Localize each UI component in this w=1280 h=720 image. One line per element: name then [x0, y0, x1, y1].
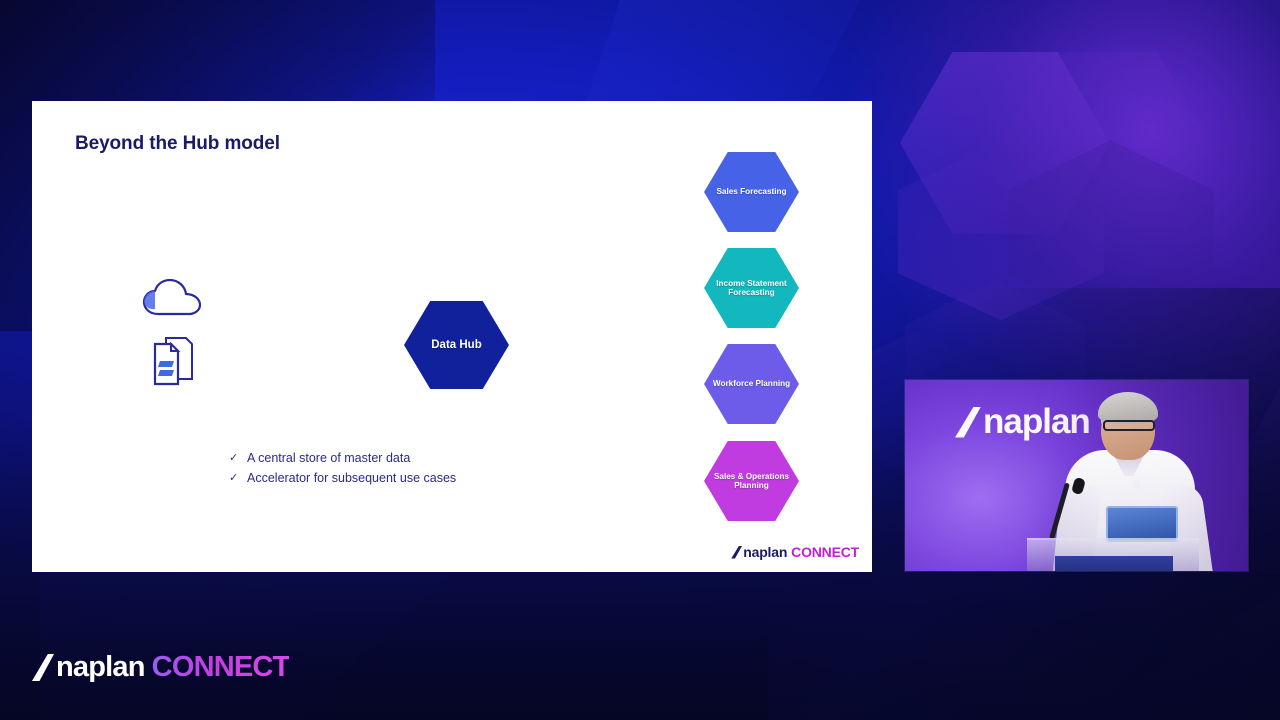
hexagon-data-hub[interactable]: Data Hub: [404, 301, 509, 389]
hexagon-label: Workforce Planning: [713, 379, 790, 388]
hexagon-sales-operations-planning[interactable]: Sales & Operations Planning: [704, 441, 799, 521]
hexagon-label: Sales & Operations Planning: [704, 472, 799, 490]
check-icon: ✓: [229, 449, 247, 467]
podium-base: [1055, 556, 1173, 571]
brand-logo-anaplan: naplan: [56, 651, 145, 684]
hexagon-workforce-planning[interactable]: Workforce Planning: [704, 344, 799, 424]
document-icon: [152, 335, 196, 387]
hexagon-income-statement-forecasting[interactable]: Income Statement Forecasting: [704, 248, 799, 328]
speaker-glasses: [1103, 420, 1155, 431]
bullet-list: ✓ A central store of master data ✓ Accel…: [229, 449, 456, 489]
slide-logo-anaplan: naplan: [743, 544, 787, 560]
cloud-icon: [142, 279, 204, 317]
hexagon-label: Income Statement Forecasting: [704, 279, 799, 297]
list-item-label: Accelerator for subsequent use cases: [247, 469, 456, 487]
list-item: ✓ Accelerator for subsequent use cases: [229, 469, 456, 487]
list-item: ✓ A central store of master data: [229, 449, 456, 467]
lapel-mic-icon: [1133, 480, 1140, 489]
check-icon: ✓: [229, 469, 247, 487]
hexagon-sales-forecasting[interactable]: Sales Forecasting: [704, 152, 799, 232]
hexagon-label: Data Hub: [431, 339, 481, 352]
presentation-slide: Beyond the Hub model Data Hub Sales Fore…: [32, 101, 872, 572]
slide-logo: naplan CONNECT: [731, 544, 859, 560]
slide-logo-connect: CONNECT: [791, 544, 859, 560]
hexagon-label: Sales Forecasting: [716, 187, 786, 196]
brand-logo: naplan CONNECT: [32, 651, 289, 684]
speaker-video-feed[interactable]: naplan C: [905, 380, 1248, 571]
data-source-icons: [142, 279, 204, 387]
anaplan-mark-icon: [731, 546, 742, 559]
slide-title: Beyond the Hub model: [75, 133, 280, 155]
laptop-icon: [1106, 506, 1178, 542]
list-item-label: A central store of master data: [247, 449, 410, 467]
brand-logo-connect: CONNECT: [152, 651, 290, 684]
anaplan-mark-icon: [32, 654, 54, 681]
